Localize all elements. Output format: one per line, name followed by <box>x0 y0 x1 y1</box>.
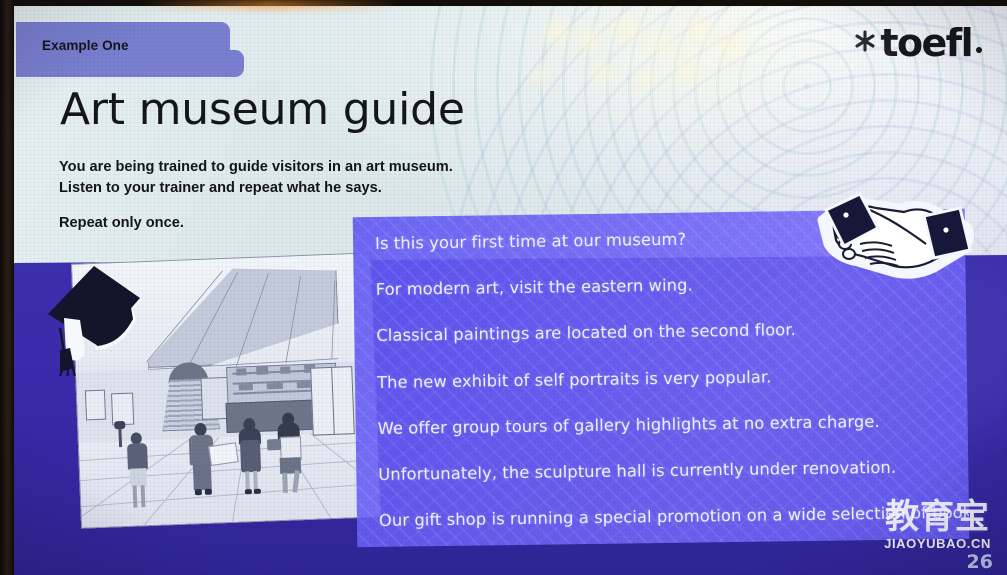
script-line: Unfortunately, the sculpture hall is cur… <box>378 457 968 484</box>
script-line: The new exhibit of self portraits is ver… <box>377 364 967 391</box>
script-line: We offer group tours of gallery highligh… <box>378 410 968 437</box>
presentation-slide: Example One toefl Art museum guide You a… <box>14 6 1007 575</box>
instructions-block: You are being trained to guide visitors … <box>59 157 453 198</box>
repeat-instruction: Repeat only once. <box>59 215 184 231</box>
toefl-logo: toefl <box>852 28 982 58</box>
example-tab-label: Example One <box>42 38 129 53</box>
handshake-icon <box>814 188 984 283</box>
monitor-bezel-left <box>0 0 14 575</box>
graduation-cap-icon <box>30 256 148 376</box>
tab-shape-lower <box>16 50 244 77</box>
instruction-line-1: You are being trained to guide visitors … <box>59 157 453 178</box>
period-dot-icon <box>976 47 982 53</box>
script-line: Classical paintings are located on the s… <box>376 318 966 345</box>
instruction-line-2: Listen to your trainer and repeat what h… <box>59 178 453 199</box>
page-title: Art museum guide <box>60 84 465 135</box>
toefl-wordmark: toefl <box>880 28 972 58</box>
asterisk-icon <box>852 28 878 58</box>
photographed-slide-screenshot: Example One toefl Art museum guide You a… <box>0 0 1007 575</box>
page-number: 26 <box>967 551 993 573</box>
script-line: Our gift shop is running a special promo… <box>379 503 969 530</box>
